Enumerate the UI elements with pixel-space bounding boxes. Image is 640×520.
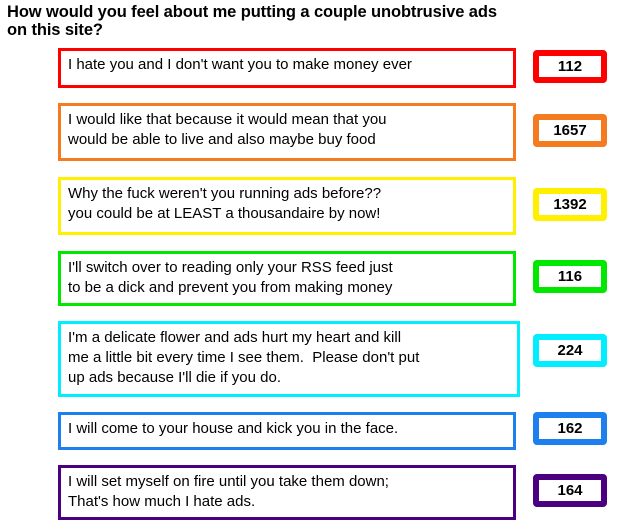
poll-option-text-line: would be able to live and also maybe buy… [68, 130, 507, 150]
poll-option-text-line: me a little bit every time I see them. P… [68, 348, 511, 368]
poll-option-count-box: 116 [533, 260, 607, 293]
poll-option-count-value: 112 [558, 59, 582, 74]
poll-option-count-value: 164 [557, 483, 582, 498]
poll-option-text-line: I'm a delicate flower and ads hurt my he… [68, 328, 511, 348]
poll-option-count-value: 1657 [553, 123, 586, 138]
poll-option-text-box[interactable]: I hate you and I don't want you to make … [58, 48, 516, 88]
poll-option-count-box: 1392 [533, 188, 607, 221]
poll-option-count-value: 1392 [553, 197, 586, 212]
poll-option-text-box[interactable]: Why the fuck weren't you running ads bef… [58, 177, 516, 235]
poll-option-count-box: 1657 [533, 114, 607, 147]
poll-options-list: I hate you and I don't want you to make … [0, 44, 640, 93]
poll-option-text-box[interactable]: I'm a delicate flower and ads hurt my he… [58, 321, 520, 397]
poll-option-count-box: 224 [533, 334, 607, 367]
poll-option-text-box[interactable]: I would like that because it would mean … [58, 103, 516, 161]
poll-option-text-line: I will come to your house and kick you i… [68, 419, 507, 439]
poll-option-count-value: 116 [558, 269, 582, 284]
poll-option-count-box: 164 [533, 474, 607, 507]
page-title-line-2: on this site? [7, 21, 607, 39]
page-title-line-1: How would you feel about me putting a co… [7, 3, 607, 21]
poll-option-text-line: you could be at LEAST a thousandaire by … [68, 204, 507, 224]
poll-option-count-box: 112 [533, 50, 607, 83]
poll-option-text-line: I will set myself on fire until you take… [68, 472, 507, 492]
poll-option-count-value: 224 [557, 343, 582, 358]
poll-option-text-box[interactable]: I'll switch over to reading only your RS… [58, 251, 516, 306]
poll-option-text-line: I'll switch over to reading only your RS… [68, 258, 507, 278]
poll-option-text-line: up ads because I'll die if you do. [68, 368, 511, 388]
poll-option-text-line: I hate you and I don't want you to make … [68, 55, 507, 75]
poll-option-text-line: That's how much I hate ads. [68, 492, 507, 512]
poll-option-text-box[interactable]: I will set myself on fire until you take… [58, 465, 516, 520]
poll-option-text-line: to be a dick and prevent you from making… [68, 278, 507, 298]
poll-option-text-line: I would like that because it would mean … [68, 110, 507, 130]
poll-option-text-line: Why the fuck weren't you running ads bef… [68, 184, 507, 204]
poll-option-text-box[interactable]: I will come to your house and kick you i… [58, 412, 516, 450]
page-title: How would you feel about me putting a co… [7, 3, 607, 39]
poll-option-count-box: 162 [533, 412, 607, 445]
poll-option-count-value: 162 [557, 421, 582, 436]
